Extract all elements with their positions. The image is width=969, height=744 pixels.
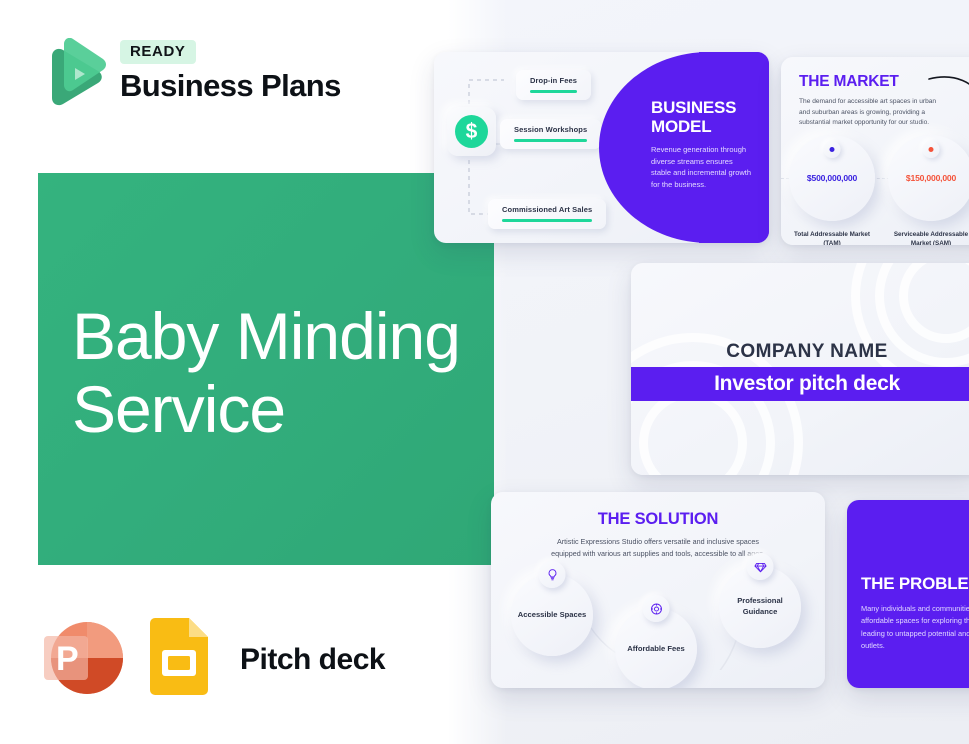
ready-badge: READY <box>120 40 196 64</box>
pillar-label: Accessible Spaces <box>518 610 586 621</box>
revenue-stream-label: Drop-in Fees <box>530 76 577 85</box>
slide-company-title[interactable]: COMPANY NAME Investor pitch deck <box>631 263 969 475</box>
brand-title: Business Plans <box>120 68 341 104</box>
metric-disc: $500,000,000 <box>789 135 875 221</box>
double-play-triangle-logo <box>40 38 106 116</box>
pillar-label: Affordable Fees <box>627 644 684 655</box>
solution-pillar[interactable]: Affordable Fees <box>615 608 697 688</box>
business-model-body: Revenue generation through diverse strea… <box>651 144 753 191</box>
format-label: Pitch deck <box>240 643 385 677</box>
lightbulb-icon <box>539 561 566 588</box>
diamond-icon <box>747 553 774 580</box>
pillar-label: Professional Guidance <box>719 596 801 618</box>
hero-title: Baby Minding Service <box>72 300 472 447</box>
solution-pillar[interactable]: Professional Guidance <box>719 566 801 648</box>
dollar-icon-tile: $ <box>447 107 496 156</box>
metric-dot <box>830 147 835 152</box>
revenue-stream-item[interactable]: Session Workshops <box>500 119 601 149</box>
solution-pillar[interactable]: Accessible Spaces <box>511 574 593 656</box>
target-compass-icon <box>643 595 670 622</box>
market-metrics: $500,000,000 Total Addressable Market (T… <box>789 135 969 245</box>
curved-arrow-icon <box>927 73 969 113</box>
market-body: The demand for accessible art spaces in … <box>799 97 941 129</box>
business-model-heading: BUSINESS MODEL <box>651 98 753 136</box>
svg-text:P: P <box>56 640 79 678</box>
pillar-disc: Accessible Spaces <box>511 574 593 656</box>
accent-bar <box>514 139 587 142</box>
metric-dot-badge <box>824 141 841 158</box>
solution-title: THE SOLUTION <box>491 510 825 529</box>
revenue-stream-label: Commissioned Art Sales <box>502 205 592 214</box>
metric-caption: Total Addressable Market (TAM) <box>789 230 875 245</box>
pillar-disc: Professional Guidance <box>719 566 801 648</box>
revenue-stream-label: Session Workshops <box>514 125 587 134</box>
slide-the-solution[interactable]: THE SOLUTION Artistic Expressions Studio… <box>491 492 825 688</box>
google-slides-icon <box>146 617 212 704</box>
metric-dot <box>929 147 934 152</box>
metric-caption: Serviceable Addressable Market (SAM) <box>888 230 969 245</box>
pillar-disc: Affordable Fees <box>615 608 697 688</box>
poster-canvas: READY Business Plans Baby Minding Servic… <box>0 0 969 744</box>
solution-pillars: Accessible Spaces Affordable Fees <box>491 566 825 670</box>
market-metric: $150,000,000 Serviceable Addressable Mar… <box>888 135 969 245</box>
slide-the-market[interactable]: THE MARKET The demand for accessible art… <box>781 57 969 245</box>
metric-value: $150,000,000 <box>906 173 956 183</box>
market-metric: $500,000,000 Total Addressable Market (T… <box>789 135 875 245</box>
brand-text-block: READY Business Plans <box>120 40 341 104</box>
revenue-stream-item[interactable]: Drop-in Fees <box>516 70 591 100</box>
powerpoint-icon: P <box>40 616 124 705</box>
pitch-deck-banner-text: Investor pitch deck <box>714 372 900 396</box>
format-icons-row: P Pitch deck <box>40 618 385 702</box>
brand-logo: READY Business Plans <box>40 36 340 120</box>
pitch-deck-banner: Investor pitch deck <box>631 367 969 401</box>
company-name: COMPANY NAME <box>631 341 969 363</box>
dollar-sign-icon: $ <box>455 115 488 148</box>
revenue-stream-item[interactable]: Commissioned Art Sales <box>488 199 606 229</box>
problem-title: THE PROBLEM <box>861 574 969 594</box>
metric-disc: $150,000,000 <box>888 135 969 221</box>
accent-bar <box>530 90 577 93</box>
accent-bar <box>502 219 592 222</box>
solution-body: Artistic Expressions Studio offers versa… <box>491 536 825 560</box>
slide-business-model[interactable]: $ Drop-in Fees Session Workshops Commiss… <box>434 52 769 243</box>
slide-the-problem[interactable]: THE PROBLEM Many individuals and communi… <box>847 500 969 688</box>
metric-dot-badge <box>923 141 940 158</box>
problem-body: Many individuals and communities lack ac… <box>861 603 969 652</box>
metric-value: $500,000,000 <box>807 173 857 183</box>
